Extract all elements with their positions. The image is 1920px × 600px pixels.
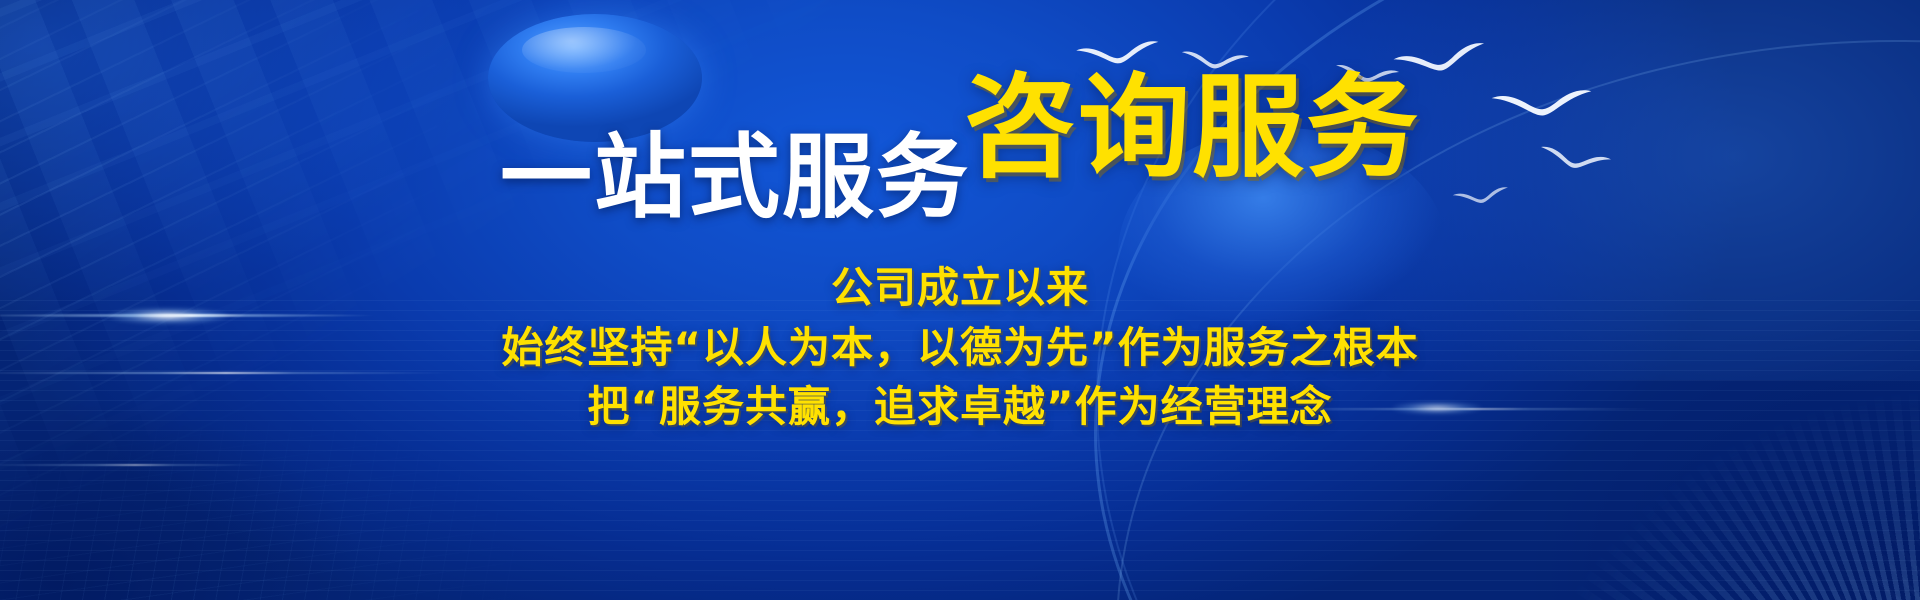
subtitle-line-1: 公司成立以来 <box>0 258 1920 318</box>
headline-accent-text: 咨询服务 <box>964 72 1420 184</box>
subtitle-line-2: 始终坚持“以人为本，以德为先”作为服务之根本 <box>0 318 1920 378</box>
subtitle-block: 公司成立以来 始终坚持“以人为本，以德为先”作为服务之根本 把“服务共赢，追求卓… <box>0 258 1920 437</box>
subtitle-line-3: 把“服务共赢，追求卓越”作为经营理念 <box>0 377 1920 437</box>
headline-primary-text: 一站式服务 <box>500 132 970 224</box>
promo-banner: 一站式服务 咨询服务 公司成立以来 始终坚持“以人为本，以德为先”作为服务之根本… <box>0 0 1920 600</box>
headline-group: 一站式服务 咨询服务 <box>0 72 1920 184</box>
banner-content: 一站式服务 咨询服务 公司成立以来 始终坚持“以人为本，以德为先”作为服务之根本… <box>0 0 1920 600</box>
